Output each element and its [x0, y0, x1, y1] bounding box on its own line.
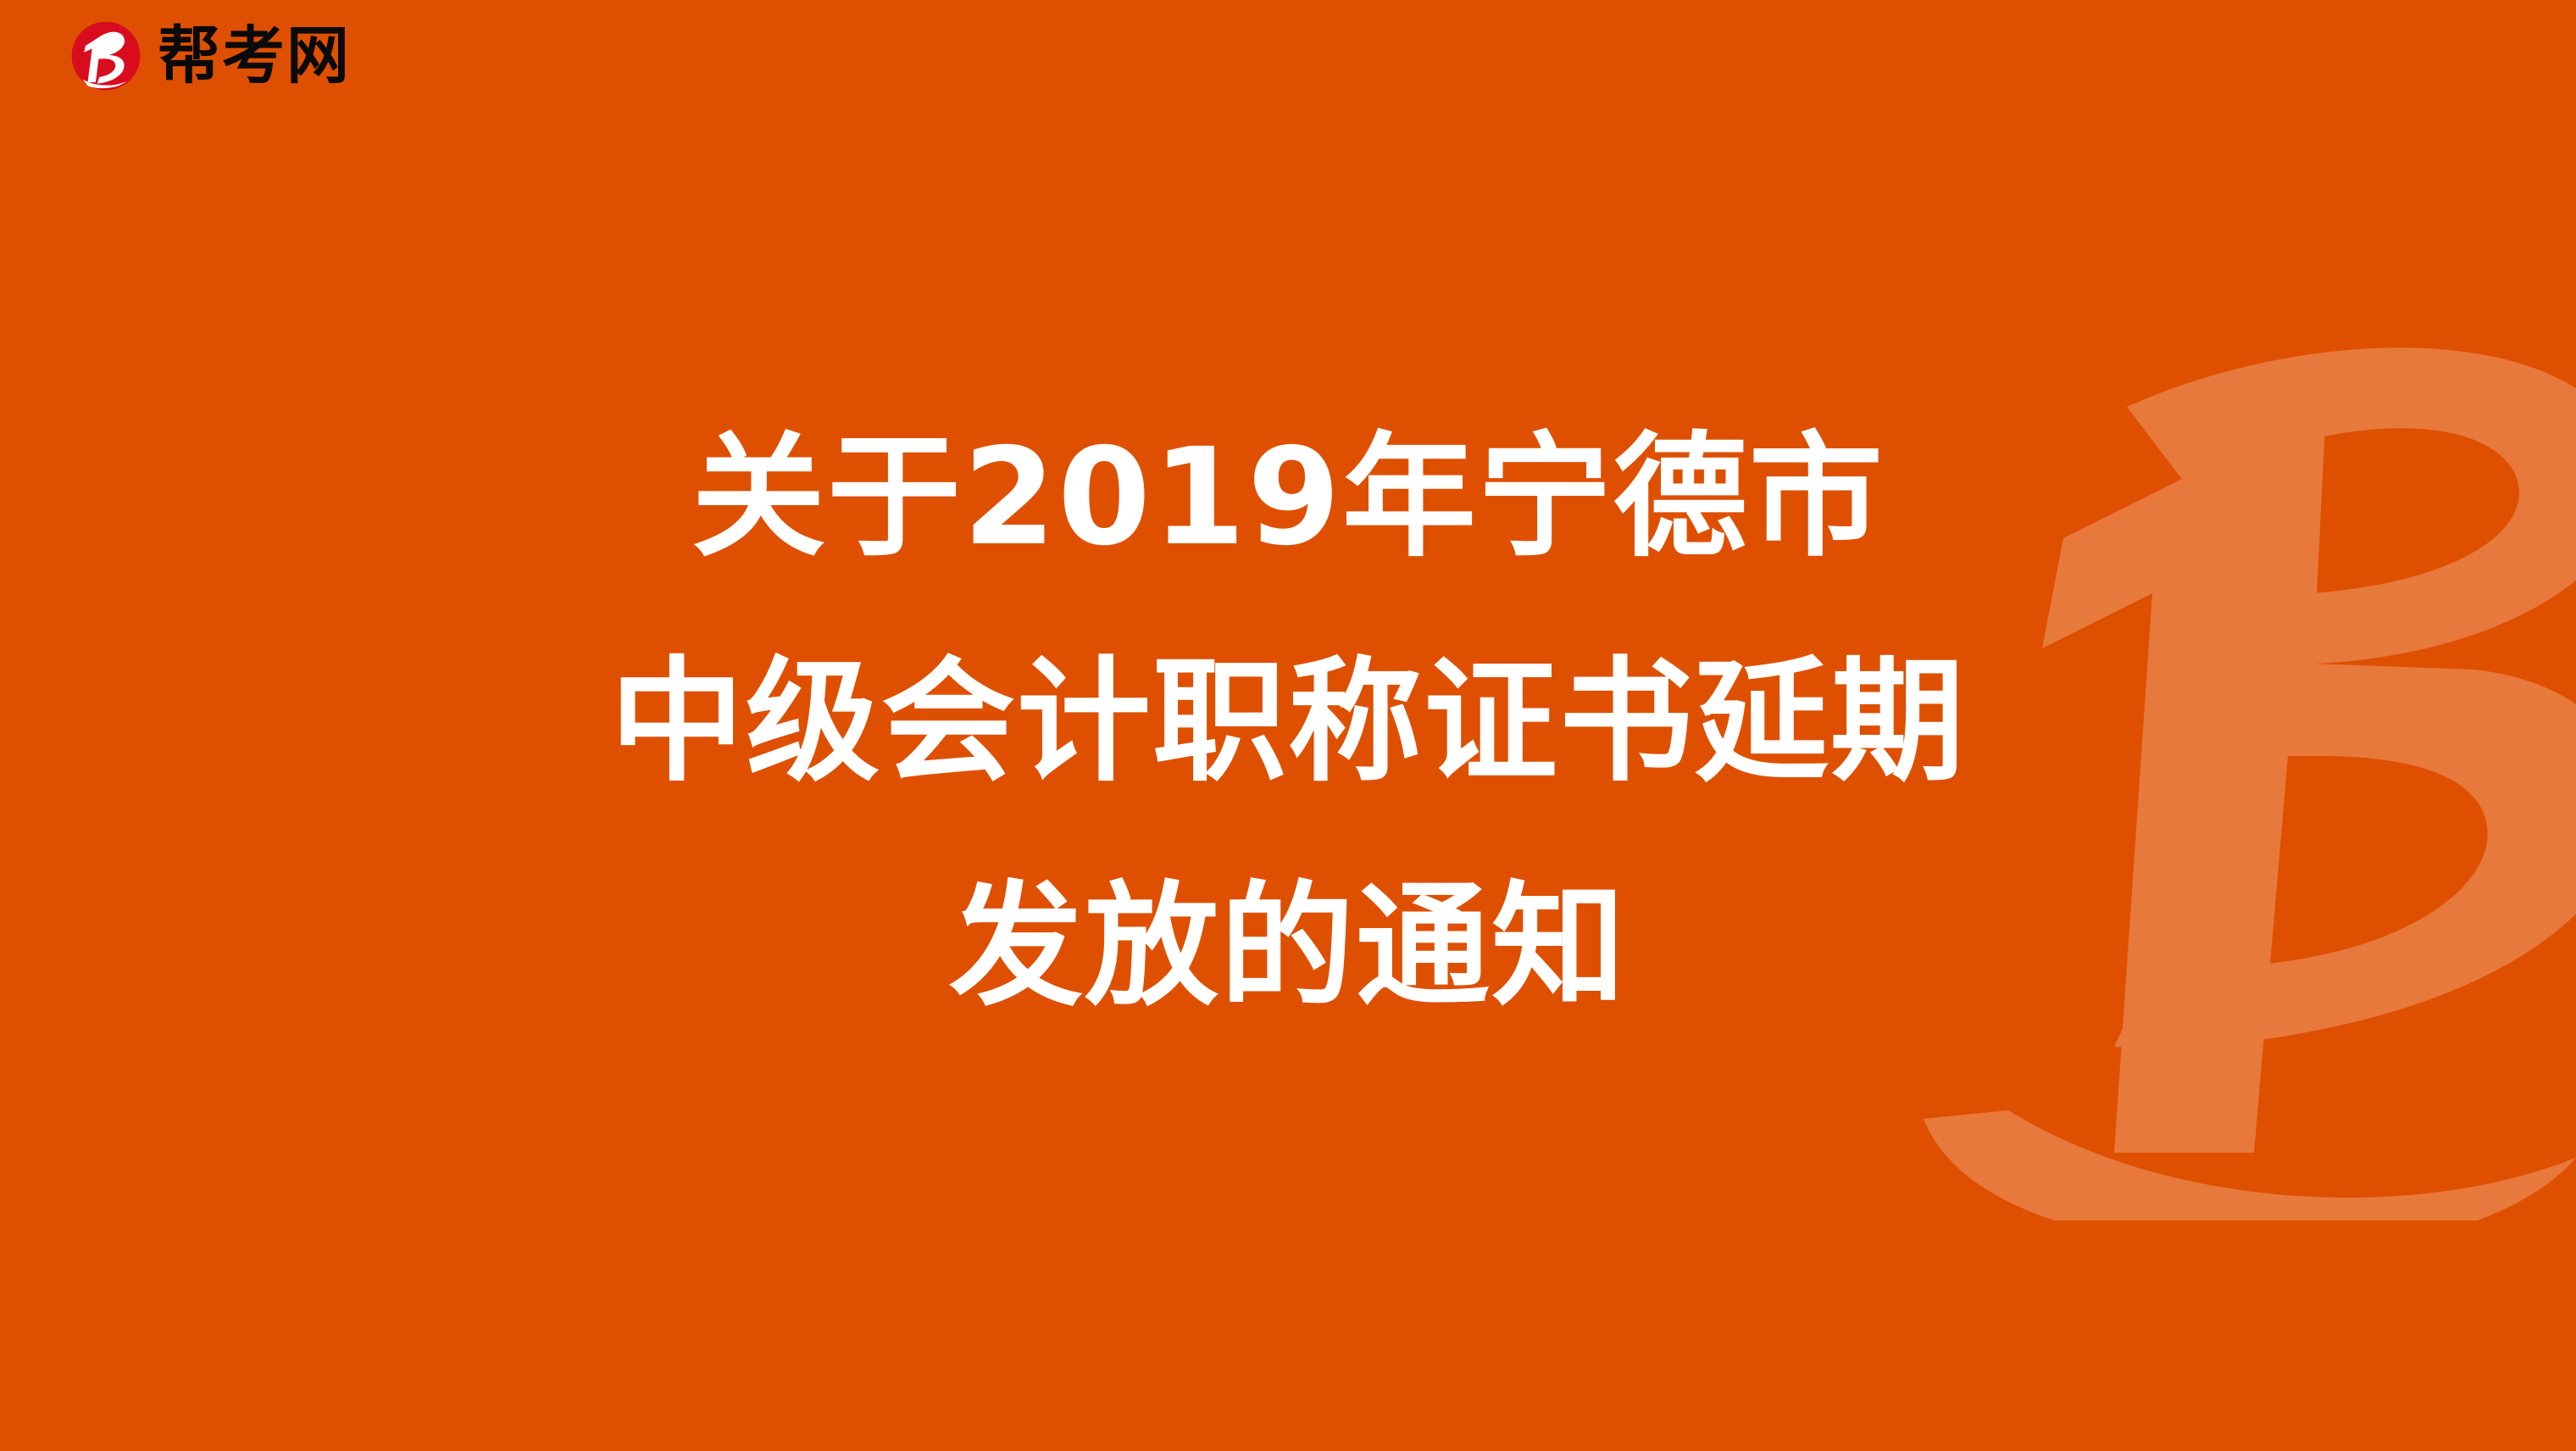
title-line-1: 关于2019年宁德市 — [102, 386, 2474, 610]
page-title: 关于2019年宁德市 中级会计职称证书延期 发放的通知 — [0, 386, 2576, 1059]
title-line-3: 发放的通知 — [102, 835, 2474, 1059]
brand-logo[interactable]: 帮考网 — [69, 19, 351, 93]
poster-canvas: 帮考网 关于2019年宁德市 中级会计职称证书延期 发放的通知 — [0, 0, 2576, 1451]
brand-name-label: 帮考网 — [158, 19, 351, 92]
stylized-b-logo-icon — [69, 19, 142, 92]
title-line-2: 中级会计职称证书延期 — [102, 610, 2474, 835]
